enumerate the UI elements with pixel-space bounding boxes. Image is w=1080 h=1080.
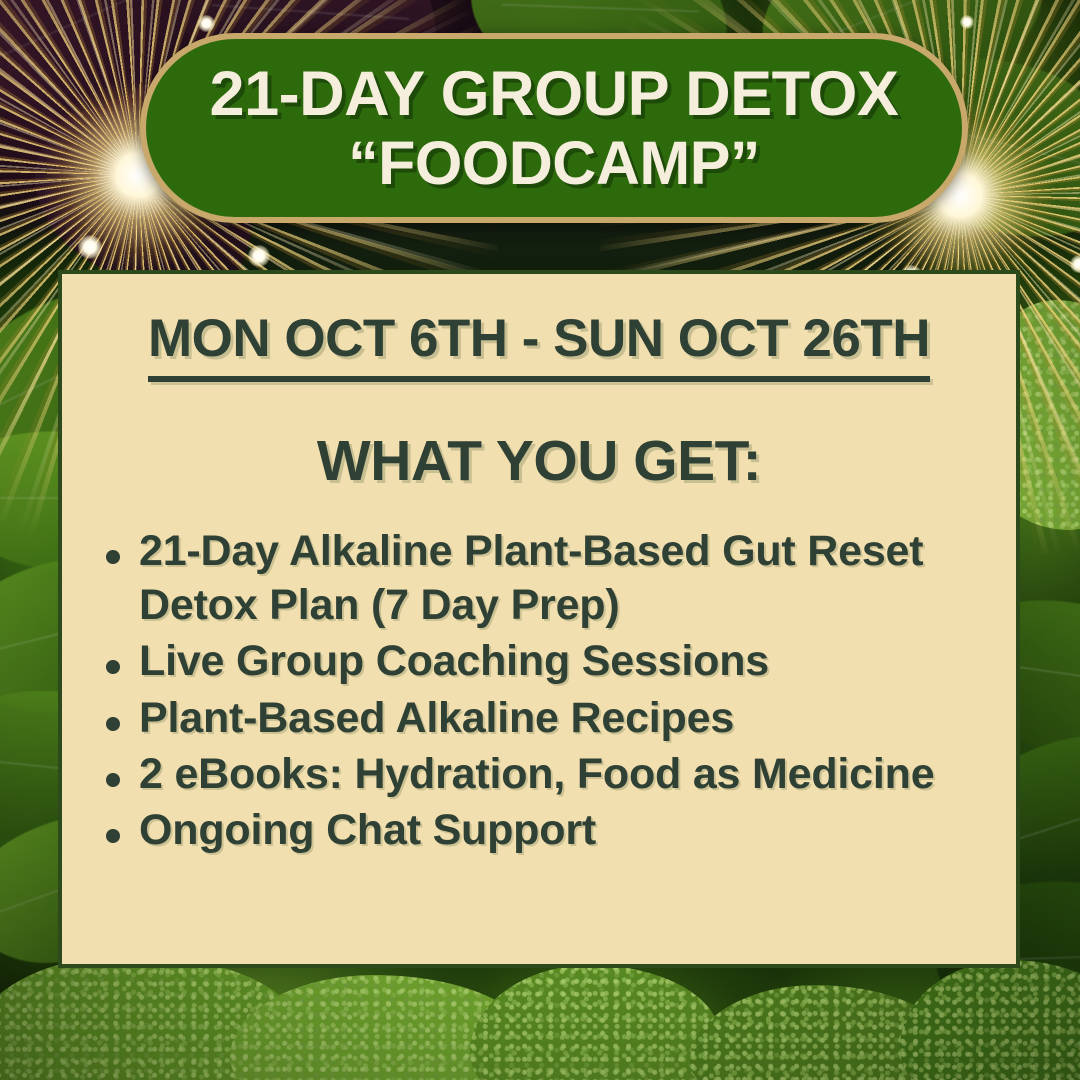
benefit-text: Live Group Coaching Sessions [139, 634, 769, 688]
benefit-item: Plant-Based Alkaline Recipes [106, 691, 990, 745]
benefit-text: 2 eBooks: Hydration, Food as Medicine [139, 747, 934, 801]
what-you-get-heading: WHAT YOU GET: [88, 428, 990, 494]
benefits-list: 21-Day Alkaline Plant-Based Gut Reset De… [88, 524, 990, 857]
banner-title-line-1: 21-DAY GROUP DETOX [210, 62, 899, 126]
benefit-text: Plant-Based Alkaline Recipes [139, 691, 734, 745]
benefit-item: Ongoing Chat Support [106, 803, 990, 857]
benefit-text: 21-Day Alkaline Plant-Based Gut Reset De… [139, 524, 990, 632]
bullet-dot-icon [106, 717, 120, 731]
banner-title-line-2: “FOODCAMP” [348, 132, 760, 194]
promo-poster: 21-DAY GROUP DETOX “FOODCAMP” MON OCT 6T… [0, 0, 1080, 1080]
benefit-item: 21-Day Alkaline Plant-Based Gut Reset De… [106, 524, 990, 632]
bullet-dot-icon [106, 773, 120, 787]
bullet-dot-icon [106, 829, 120, 843]
benefit-item: Live Group Coaching Sessions [106, 634, 990, 688]
benefit-item: 2 eBooks: Hydration, Food as Medicine [106, 747, 990, 801]
title-banner: 21-DAY GROUP DETOX “FOODCAMP” [140, 33, 968, 223]
benefit-text: Ongoing Chat Support [139, 803, 596, 857]
date-underline [148, 376, 930, 382]
date-range-text: MON OCT 6TH - SUN OCT 26TH [148, 308, 930, 369]
details-panel: MON OCT 6TH - SUN OCT 26TH WHAT YOU GET:… [58, 270, 1020, 968]
bullet-dot-icon [106, 660, 120, 674]
date-range-block: MON OCT 6TH - SUN OCT 26TH [148, 308, 930, 382]
bullet-dot-icon [106, 550, 120, 564]
